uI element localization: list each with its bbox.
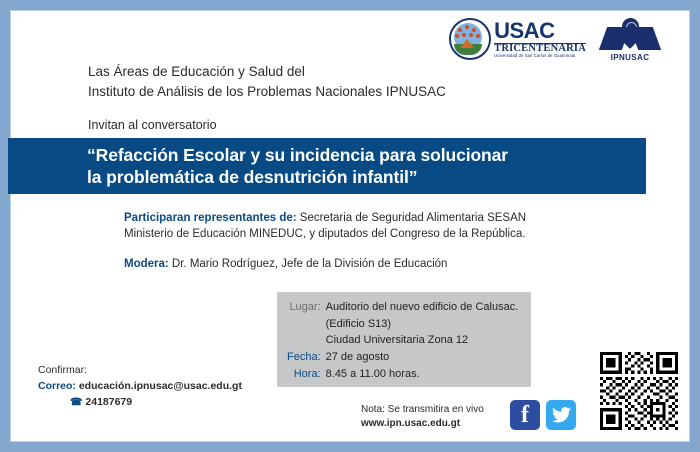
usac-wordmark: USAC TRICENTENARIA Universidad de San Ca… [494, 20, 586, 59]
ipnusac-name: IPNUSAC [602, 53, 658, 62]
invitation-line: Invitan al conversatorio [88, 118, 217, 132]
place-label-spacer-2 [287, 333, 326, 350]
confirm-email-value[interactable]: educación.ipnusac@usac.edu.gt [79, 380, 242, 392]
moderator-label: Modera: [124, 258, 169, 270]
table-row: Ciudad Universitaria Zona 12 [287, 333, 518, 350]
place-value-2: (Edificio S13) [326, 317, 519, 334]
participants-block: Participaran representantes de: Secretar… [124, 210, 526, 243]
facebook-icon[interactable]: f [510, 400, 540, 430]
phone-icon: ☎ [70, 397, 82, 408]
usac-logo: USAC TRICENTENARIA Universidad de San Ca… [449, 18, 586, 60]
time-label: Hora: [287, 367, 326, 384]
ipnusac-logo: IPNUSAC [602, 18, 658, 62]
confirm-phone-row: ☎ 24187679 [70, 395, 242, 411]
place-label: Lugar: [287, 300, 326, 317]
place-label-spacer [287, 317, 326, 334]
title-banner: “Refacción Escolar y su incidencia para … [8, 138, 646, 194]
page-title: “Refacción Escolar y su incidencia para … [87, 144, 508, 189]
participants-label: Participaran representantes de: [124, 212, 297, 224]
event-details-table: Lugar: Auditorio del nuevo edificio de C… [287, 300, 518, 384]
participants-line-2: Ministerio de Educación MINEDUC, y diput… [124, 228, 525, 240]
moderator-block: Modera: Dr. Mario Rodríguez, Jefe de la … [124, 258, 447, 270]
organizers-text: Las Áreas de Educación y Salud del Insti… [88, 62, 446, 101]
qr-code[interactable] [600, 352, 678, 430]
poster-canvas: USAC TRICENTENARIA Universidad de San Ca… [0, 0, 700, 452]
twitter-icon[interactable] [546, 400, 576, 430]
broadcast-note: Nota: Se transmitira en vivo www.ipn.usa… [361, 403, 484, 431]
table-row: (Edificio S13) [287, 317, 518, 334]
table-row: Fecha: 27 de agosto [287, 350, 518, 367]
participants-line-1: Secretaria de Seguridad Alimentaria SESA… [297, 212, 526, 224]
table-row: Lugar: Auditorio del nuevo edificio de C… [287, 300, 518, 317]
logo-group: USAC TRICENTENARIA Universidad de San Ca… [449, 18, 658, 62]
confirm-title: Confirmar: [38, 363, 242, 379]
confirm-email-row: Correo: educación.ipnusac@usac.edu.gt [38, 379, 242, 395]
time-value: 8.45 a 11.00 horas. [326, 367, 519, 384]
place-value-1: Auditorio del nuevo edificio de Calusac. [326, 300, 519, 317]
event-details-box: Lugar: Auditorio del nuevo edificio de C… [277, 292, 531, 387]
confirm-block: Confirmar: Correo: educación.ipnusac@usa… [38, 363, 242, 410]
usac-subtitle: Universidad de San Carlos de Guatemala [494, 54, 586, 58]
confirm-email-label: Correo: [38, 380, 76, 392]
date-value: 27 de agosto [326, 350, 519, 367]
social-links: f [510, 400, 576, 430]
organizers-lines: Las Áreas de Educación y Salud del Insti… [88, 64, 446, 99]
date-label: Fecha: [287, 350, 326, 367]
confirm-phone-value[interactable]: 24187679 [85, 396, 132, 408]
usac-name: USAC [494, 20, 586, 42]
usac-seal-icon [449, 18, 491, 60]
broadcast-note-text: Nota: Se transmitira en vivo [361, 403, 484, 417]
table-row: Hora: 8.45 a 11.00 horas. [287, 367, 518, 384]
moderator-value: Dr. Mario Rodríguez, Jefe de la División… [169, 258, 448, 270]
broadcast-url[interactable]: www.ipn.usac.edu.gt [361, 417, 484, 431]
place-value-3: Ciudad Universitaria Zona 12 [326, 333, 519, 350]
ipnusac-mark-icon [602, 18, 658, 52]
